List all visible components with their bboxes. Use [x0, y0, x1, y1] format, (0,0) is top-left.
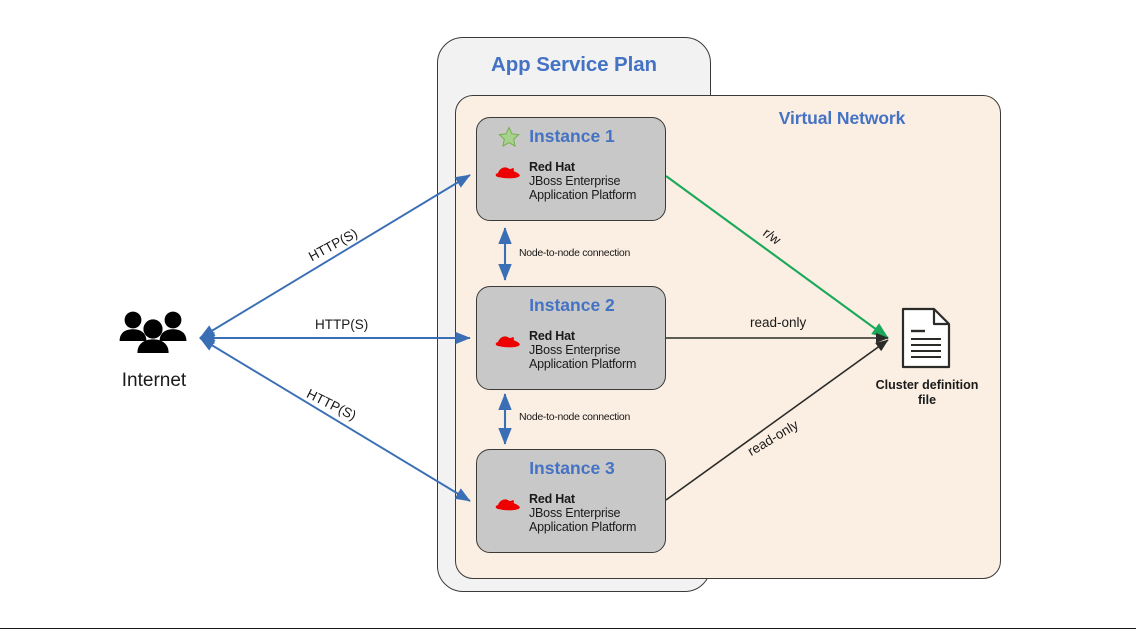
users-group-icon: [117, 308, 189, 360]
footer-divider: [0, 628, 1136, 629]
redhat-fedora-icon: [495, 162, 523, 184]
edge-label-http-instance-2: HTTP(S): [315, 317, 368, 332]
instance-2-brand: Red Hat: [529, 329, 636, 343]
redhat-fedora-icon: [495, 331, 523, 353]
instance-3-brand: Red Hat: [529, 492, 636, 506]
document-file-icon: [901, 307, 951, 369]
cluster-definition-file-label: Cluster definition file: [855, 378, 999, 408]
diagram-canvas: App Service Plan Virtual Network: [0, 0, 1136, 636]
instance-2-product-line2: Application Platform: [529, 357, 636, 371]
instance-1-product-line2: Application Platform: [529, 188, 636, 202]
instance-2-product-line1: JBoss Enterprise: [529, 343, 636, 357]
instance-2-product: Red Hat JBoss Enterprise Application Pla…: [495, 329, 636, 371]
redhat-fedora-icon: [495, 494, 523, 516]
instance-3-product-line2: Application Platform: [529, 520, 636, 534]
instance-1-brand: Red Hat: [529, 160, 636, 174]
instance-1-title: Instance 1: [477, 126, 667, 147]
instance-card-2[interactable]: Instance 2 Red Hat JBoss Enterprise Appl…: [476, 286, 666, 390]
cluster-file-label-line2: file: [918, 393, 936, 407]
instance-1-product-text: Red Hat JBoss Enterprise Application Pla…: [529, 160, 636, 202]
edge-label-read-only-instance-2: read-only: [750, 315, 806, 330]
instance-3-title: Instance 3: [477, 458, 667, 479]
instance-3-product-line1: JBoss Enterprise: [529, 506, 636, 520]
instance-card-1[interactable]: Instance 1 Red Hat JBoss Enterprise Appl…: [476, 117, 666, 221]
instance-card-3[interactable]: Instance 3 Red Hat JBoss Enterprise Appl…: [476, 449, 666, 553]
instance-2-product-text: Red Hat JBoss Enterprise Application Pla…: [529, 329, 636, 371]
instance-1-product: Red Hat JBoss Enterprise Application Pla…: [495, 160, 636, 202]
cluster-file-label-line1: Cluster definition: [876, 378, 979, 392]
instance-2-title: Instance 2: [477, 295, 667, 316]
edge-instance-1-to-cluster-file: [666, 176, 888, 338]
edge-instance-3-to-cluster-file: [666, 340, 888, 500]
instance-3-product-text: Red Hat JBoss Enterprise Application Pla…: [529, 492, 636, 534]
edge-internet-to-instance-3: [200, 338, 470, 501]
edge-label-node-to-node-top: Node-to-node connection: [519, 247, 630, 259]
edge-internet-to-instance-1: [200, 175, 470, 338]
edge-label-node-to-node-bottom: Node-to-node connection: [519, 411, 630, 423]
internet-label: Internet: [90, 370, 218, 392]
instance-3-product: Red Hat JBoss Enterprise Application Pla…: [495, 492, 636, 534]
instance-1-product-line1: JBoss Enterprise: [529, 174, 636, 188]
